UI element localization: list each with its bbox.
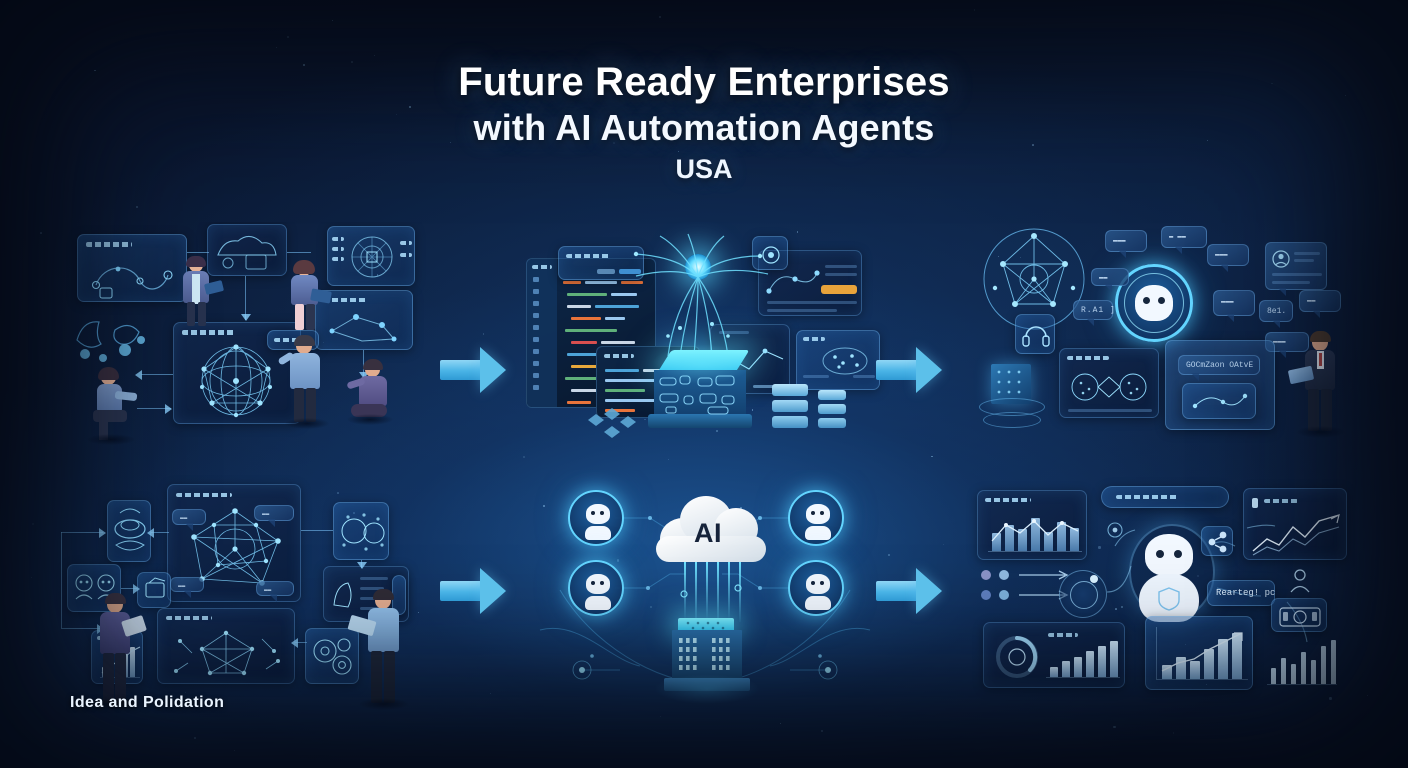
background-particle [287, 36, 289, 38]
ai-cloud-label: AI [694, 518, 722, 549]
chat-bubble-label: R.A1 ] [1081, 306, 1116, 315]
flow-connector [61, 532, 62, 628]
flow-arrowhead [291, 638, 298, 648]
person-leg [1308, 389, 1319, 431]
panel-development-pipeline [520, 222, 890, 462]
panel-idea-validation: ▬▬ ▬▬ ▬▬ ▬▬ [55, 470, 445, 720]
chat-bubble-text: ▬▬▬ [1215, 251, 1228, 259]
background-particle [931, 456, 933, 458]
chat-bubble: ▬▬ [1091, 268, 1129, 286]
flow-arrowhead [133, 584, 140, 594]
arrow-row1-step1-to-step2 [440, 347, 510, 393]
screen-row [825, 265, 857, 268]
data-cube [648, 350, 756, 438]
flow-connector [61, 532, 103, 533]
board-chip: ▬▬ [254, 505, 294, 521]
abstract-data-icon [208, 225, 288, 277]
orbit-ring-lower [983, 412, 1041, 428]
diamond-cluster-icon [582, 408, 642, 448]
chat-bubble-text: ▬▬ [1099, 274, 1107, 282]
person-leg [1321, 389, 1332, 431]
chat-bubble-text: ▬▬▬ [1113, 237, 1126, 245]
flow-connector [301, 530, 333, 531]
arrow-row2-step2-to-step3 [876, 568, 946, 614]
board-label-garbled [86, 242, 132, 247]
panel-conversational-agent: ▬▬▬ ▬ ▬▬ ▬▬▬ ▬▬ R.A1 ] ▬▬▬ 8e1. ▬▬ ▬▬▬ [955, 222, 1355, 462]
chart-axis-x [1046, 677, 1120, 678]
agent-avatar-top-right [788, 490, 844, 546]
chart-bar [1281, 658, 1286, 684]
chat-bubble: ▬▬ [1299, 290, 1341, 312]
screen-row [853, 375, 875, 378]
cube-glow [652, 344, 752, 384]
network-link-icon [1187, 388, 1253, 416]
background-particle [32, 523, 34, 525]
board-side-text [332, 237, 344, 241]
chat-bubble-ra1: R.A1 ] [1073, 300, 1113, 320]
ai-cloud: AI [652, 492, 770, 564]
board-label-garbled [182, 330, 236, 335]
agent-eye-left [811, 581, 815, 585]
background-particle [821, 730, 823, 732]
arrow-head [480, 347, 506, 393]
person-leg [306, 304, 315, 330]
arrow-shaft [440, 360, 482, 380]
arrow-head [916, 568, 942, 614]
gutter-marker [533, 361, 539, 366]
background-particle [374, 55, 375, 56]
board-chip: ▬▬ [172, 509, 206, 525]
holo-screen-dataset [796, 330, 880, 390]
panel-analytics-monitoring: Rearteg! pc [955, 470, 1355, 720]
dashboard-card-gauge-bars [983, 622, 1125, 688]
agent-eye-right [600, 511, 604, 515]
building-glow [654, 674, 760, 704]
gutter-marker [533, 337, 539, 342]
holo-board-radar-chart [327, 226, 415, 286]
donut-gauge-icon [990, 631, 1044, 683]
flow-arrowhead [241, 314, 251, 321]
person-shadow [359, 698, 409, 710]
person-standing-male [283, 338, 329, 424]
person-leg [295, 304, 304, 330]
title-line-1: Future Ready Enterprises [0, 62, 1408, 103]
agent-avatar-top-left [568, 490, 624, 546]
background-particle [943, 544, 944, 545]
person-torso [290, 353, 320, 389]
person-kneeling-male [343, 362, 395, 428]
arrow-head [480, 568, 506, 614]
code-token [605, 369, 639, 372]
flow-connector [187, 252, 209, 253]
background-particle [234, 750, 235, 751]
arrow-shaft [440, 581, 482, 601]
person-presenter-female-2 [283, 262, 329, 334]
background-particle [40, 232, 42, 234]
screen-row [825, 273, 857, 276]
agent-head [586, 574, 610, 594]
card-row [1294, 252, 1320, 255]
chat-bubble-profile-card [1265, 242, 1327, 290]
abstract-blob-cluster [69, 310, 159, 370]
molecule-icon [316, 307, 414, 349]
title-line-3: USA [0, 154, 1408, 185]
gutter-marker [533, 385, 539, 390]
person-shadow [347, 414, 393, 425]
background-particle [780, 723, 781, 724]
person-seated-female [81, 370, 141, 442]
person-analyst-left [89, 596, 145, 710]
board-headline-chip: GOCmZaon OAtvE [1178, 355, 1260, 375]
code-token [563, 281, 581, 284]
screen-row [803, 375, 829, 378]
gutter-marker [533, 289, 539, 294]
person-tie [1319, 353, 1322, 366]
holo-board-analysis-net [157, 608, 295, 684]
board-inner-card [1182, 383, 1256, 419]
background-particle [31, 577, 32, 578]
share-node-badge [1201, 526, 1233, 556]
chart-bar [1291, 664, 1296, 684]
chart-bar [1110, 641, 1118, 677]
background-particle [136, 206, 138, 208]
gutter-marker [533, 325, 539, 330]
server-layer [772, 400, 808, 412]
arrow-head [916, 347, 942, 393]
server-layer [818, 404, 846, 414]
chart-bar [1321, 646, 1326, 684]
chart-axis-x [1267, 684, 1337, 685]
person-analyst-right [355, 592, 411, 714]
board-headline-text: GOCmZaon OAtvE [1186, 361, 1253, 370]
person-businessman [1293, 334, 1347, 436]
person-shadow [87, 434, 135, 445]
holo-board-data-shapes [207, 224, 287, 276]
bubble-cluster-icon [334, 503, 390, 561]
agent-head [806, 504, 830, 524]
screen-highlight-row [821, 285, 857, 294]
board-side-text [332, 257, 344, 261]
background-particle [332, 20, 333, 21]
editor-title-garbled [532, 265, 552, 269]
person-leg [306, 388, 316, 422]
chatbot-eye-right [1158, 297, 1165, 304]
chart-bar [1086, 651, 1094, 677]
background-particle [490, 693, 491, 694]
agent-eye-right [820, 511, 824, 515]
gutter-marker [533, 373, 539, 378]
server-layer [772, 416, 808, 428]
flow-arrowhead [357, 562, 367, 569]
code-token [571, 365, 599, 368]
chat-bubble: ▬▬▬ [1105, 230, 1147, 252]
chat-bubble: ▬▬▬ [1207, 244, 1249, 266]
person-leg [294, 388, 304, 422]
chart-bar [1050, 667, 1058, 677]
chat-bubble: ▬ ▬▬ [1161, 226, 1207, 248]
arrow-row2-step1-to-step2 [440, 568, 510, 614]
board-chip: ▬▬ [256, 581, 294, 596]
data-cube-orbit [979, 360, 1047, 436]
holo-board-3d-shapes [107, 500, 151, 562]
gutter-marker [533, 349, 539, 354]
board-chip: ▬▬ [170, 577, 204, 592]
server-layer [818, 390, 846, 400]
share-nodes-icon [1202, 527, 1234, 557]
chart-bar [1271, 668, 1276, 684]
chatbot-face [1135, 285, 1173, 321]
building-windows [672, 630, 742, 680]
venn-network-icon [1065, 367, 1155, 407]
background-particle [194, 737, 196, 739]
support-headset-badge [1015, 314, 1055, 354]
agent-body [805, 596, 831, 610]
person-leg [198, 302, 206, 326]
agent-head [806, 574, 830, 594]
arrow-row1-step2-to-step3 [876, 347, 946, 393]
editor-gutter [527, 259, 557, 407]
chat-bubble-text: ▬▬ [1307, 297, 1315, 305]
board-chip-text: ▬▬ [178, 582, 185, 589]
page-title: Future Ready Enterprises with AI Automat… [0, 62, 1408, 185]
agent-body [585, 526, 611, 540]
dashboard-chip-label: Rearteg! pc [1207, 580, 1275, 606]
code-token [605, 389, 645, 392]
headset-icon [1016, 315, 1056, 355]
flow-connector [141, 374, 173, 375]
arrow-shaft [876, 360, 918, 380]
person-hair [186, 256, 206, 267]
holo-board-presentation: GOCmZaon OAtvE [1165, 340, 1275, 430]
server-layer [772, 384, 808, 396]
card-row [1272, 281, 1310, 284]
neural-tendrils [588, 232, 808, 362]
board-chip-text: ▬▬ [262, 510, 269, 517]
chat-bubble-text: ▬ ▬▬ [1169, 233, 1186, 241]
chart-bar [1074, 657, 1082, 677]
person-leg [187, 302, 195, 326]
chart-bar [1062, 661, 1070, 677]
camera-icon [1272, 599, 1328, 633]
card-title-garbled [1048, 633, 1078, 637]
panel-ai-cloud-deployment: AI [520, 470, 890, 720]
background-particle [1113, 726, 1115, 728]
gutter-marker [533, 301, 539, 306]
background-particle [1173, 732, 1175, 734]
panel-ideation-workshop [55, 222, 445, 462]
chart-axis-x [1156, 679, 1248, 680]
person-shadow [1297, 426, 1345, 438]
chart-bar [1098, 646, 1106, 677]
background-particle [659, 16, 661, 18]
chatbot-eye-left [1143, 297, 1150, 304]
scatter-cluster-icon [819, 345, 871, 379]
person-hair [105, 593, 126, 604]
spec-row [360, 577, 388, 580]
chat-bubble: ▬▬▬ [1213, 290, 1255, 316]
flow-arrowhead [165, 404, 172, 414]
person-presenter-female [175, 258, 219, 328]
chat-bubble-label: 8e1. [1267, 307, 1286, 316]
flow-diagram-icon [78, 255, 188, 301]
flow-arrowhead [99, 528, 106, 538]
radar-net-icon [162, 627, 292, 681]
agent-eye-left [591, 511, 595, 515]
agent-body [805, 526, 831, 540]
board-chip-text: ▬▬ [264, 586, 271, 593]
user-presence-icon [1283, 566, 1317, 600]
chart-bar [1331, 640, 1336, 684]
title-line-2: with AI Automation Agents [0, 110, 1408, 147]
flow-connector [287, 252, 311, 253]
holo-board-gears [305, 628, 359, 684]
chart-trendline [1156, 629, 1250, 677]
chat-bubble-8e1: 8e1. [1259, 300, 1293, 322]
holo-board-knowledge-network: ▬▬ ▬▬ ▬▬ ▬▬ [167, 484, 301, 602]
person-hair [98, 367, 119, 380]
camera-widget [1271, 598, 1327, 632]
bottom-caption: Idea and Polidation [70, 694, 224, 712]
person-hair [363, 359, 383, 370]
board-label-garbled [176, 493, 232, 497]
chip-label-text: Rearteg! pc [1216, 588, 1275, 598]
person-hair [1310, 331, 1331, 342]
agent-eye-left [811, 511, 815, 515]
background-particle [1367, 695, 1368, 696]
person-shirt [192, 274, 200, 304]
person-shadow [285, 418, 329, 429]
datacenter-building [664, 618, 750, 696]
server-layer [818, 418, 846, 428]
board-side-text [400, 253, 412, 257]
user-avatar-icon [1272, 250, 1290, 268]
sparkline-bars [1267, 636, 1339, 690]
banner-canvas: Future Ready Enterprises with AI Automat… [0, 0, 1408, 768]
holo-board-network-flow [77, 234, 187, 302]
agent-avatar-bottom-left [568, 560, 624, 616]
background-particle [974, 9, 975, 10]
agent-body [585, 596, 611, 610]
gutter-marker [533, 277, 539, 282]
agent-avatar-bottom-right [788, 560, 844, 616]
arrow-shaft [876, 581, 918, 601]
agent-eye-right [600, 581, 604, 585]
person-leg [371, 651, 382, 703]
holo-board-bubble-cluster [333, 502, 389, 560]
person-hair [293, 260, 315, 274]
shape-icon [328, 575, 356, 615]
board-label-garbled [1067, 356, 1109, 360]
person-hair [294, 335, 315, 346]
agent-head [586, 504, 610, 524]
person-leg [384, 651, 395, 703]
person-hair [373, 589, 394, 600]
board-side-text [332, 247, 344, 251]
background-particle [276, 47, 277, 48]
board-label-garbled [166, 616, 212, 620]
agent-eye-left [591, 581, 595, 585]
board-row [1068, 409, 1152, 412]
holo-board-similarity [1059, 348, 1159, 418]
background-particle [483, 333, 484, 334]
code-token [567, 401, 591, 404]
board-chip-text: ▬▬ [180, 514, 187, 521]
card-row [1272, 273, 1322, 276]
flow-arrowhead [147, 528, 154, 538]
gutter-marker [533, 313, 539, 318]
abstract-3d-icon [108, 501, 152, 563]
board-side-text [400, 241, 412, 245]
chat-bubble-text: ▬▬▬ [1221, 298, 1234, 306]
chart-bar [1311, 660, 1316, 684]
gears-icon [306, 629, 360, 685]
card-row [1294, 259, 1314, 262]
chart-bar [1301, 652, 1306, 684]
agent-eye-right [820, 581, 824, 585]
dashboard-card-trend-bars [1145, 616, 1253, 690]
